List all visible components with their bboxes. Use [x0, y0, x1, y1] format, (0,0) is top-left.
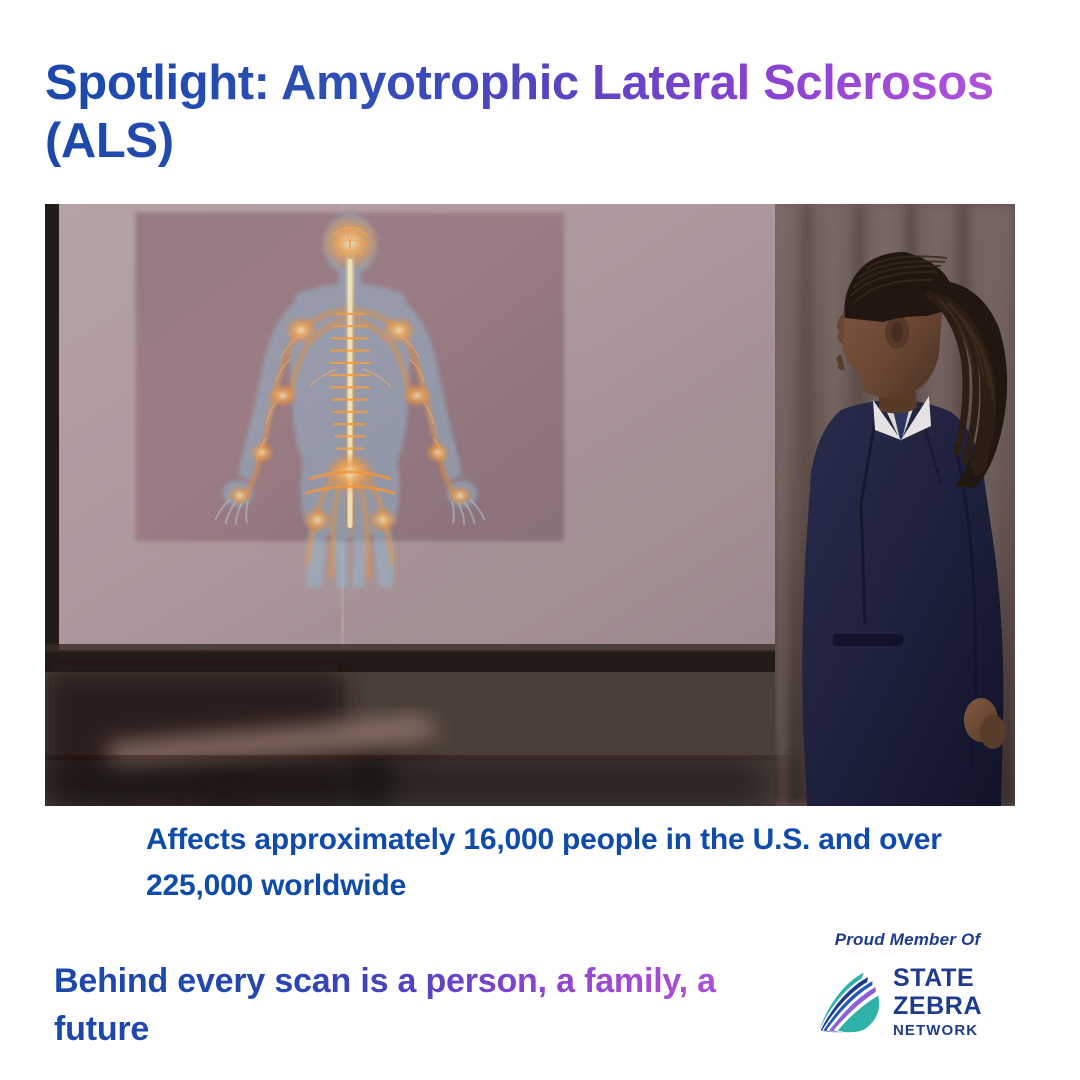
logo-word-state: STATE: [893, 966, 982, 991]
logo-word-zebra: ZEBRA: [893, 994, 982, 1019]
statistic-text: Affects approximately 16,000 people in t…: [146, 817, 976, 908]
logo-row: STATE ZEBRA NETWORK: [812, 962, 1012, 1038]
logo-word-network: NETWORK: [893, 1023, 982, 1038]
page-title: Spotlight: Amyotrophic Lateral Sclerosos…: [45, 55, 1055, 171]
tagline-text: Behind every scan is a person, a family,…: [54, 957, 734, 1054]
hero-photo-illustration: [45, 204, 1015, 806]
logo-wordmark: STATE ZEBRA NETWORK: [893, 962, 982, 1038]
member-logo-block: Proud Member Of: [812, 930, 1012, 1038]
poster-canvas: Spotlight: Amyotrophic Lateral Sclerosos…: [0, 0, 1080, 1080]
hero-photo: [45, 204, 1015, 806]
proud-member-label: Proud Member Of: [820, 930, 995, 950]
state-zebra-network-logo-icon: [812, 964, 884, 1036]
